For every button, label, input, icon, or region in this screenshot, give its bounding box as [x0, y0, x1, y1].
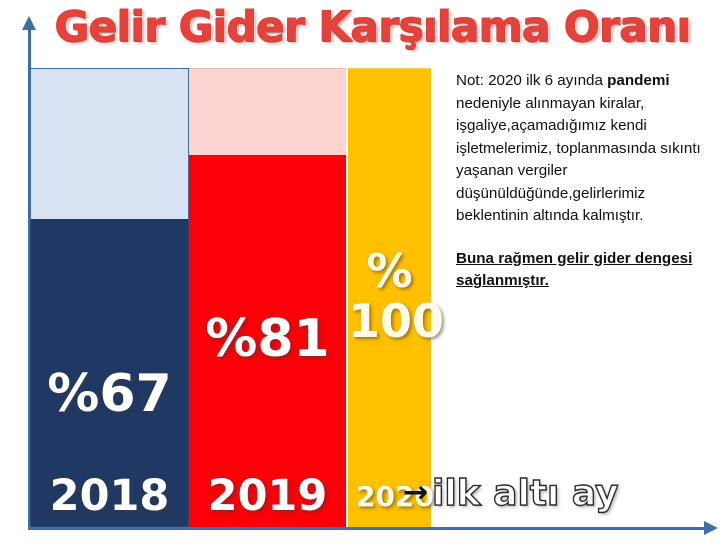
note-block: Not: 2020 ilk 6 ayında pandemi nedeniyle…: [456, 70, 718, 293]
bar-2020-fill: [348, 68, 431, 527]
bar-2018[interactable]: %67 2018: [30, 68, 189, 527]
bar-2020[interactable]: % 100 2020: [348, 68, 431, 527]
y-axis-arrowhead-icon: [22, 16, 36, 30]
bar-2018-remainder: [30, 68, 189, 219]
bar-2019[interactable]: %81 2019: [189, 68, 346, 527]
bar-2019-remainder: [189, 68, 346, 155]
note-line1: Not: 2020 ilk 6 ayında: [456, 72, 607, 89]
annotation-label-ilk-alti-ay: ilk altı ay: [432, 473, 619, 514]
note-body: nedeniyle alınmayan kiralar, işgaliye,aç…: [456, 95, 701, 225]
x-axis-arrowhead-icon: [704, 521, 718, 535]
bar-2019-fill: [189, 155, 346, 527]
note-conclusion: Buna rağmen gelir gider dengesi sağlanmı…: [456, 248, 718, 294]
note-bold-word: pandemi: [607, 72, 669, 89]
plot-area: %67 2018 %81 2019 % 100 2020: [30, 68, 430, 527]
annotation-arrow-icon: →: [403, 478, 428, 508]
slide-canvas: Gelir Gider Karşılama Oranı %67 2018 %81…: [0, 0, 728, 555]
bar-2018-fill: [30, 219, 189, 527]
page-title: Gelir Gider Karşılama Oranı: [55, 2, 675, 51]
x-axis-line: [28, 527, 706, 530]
